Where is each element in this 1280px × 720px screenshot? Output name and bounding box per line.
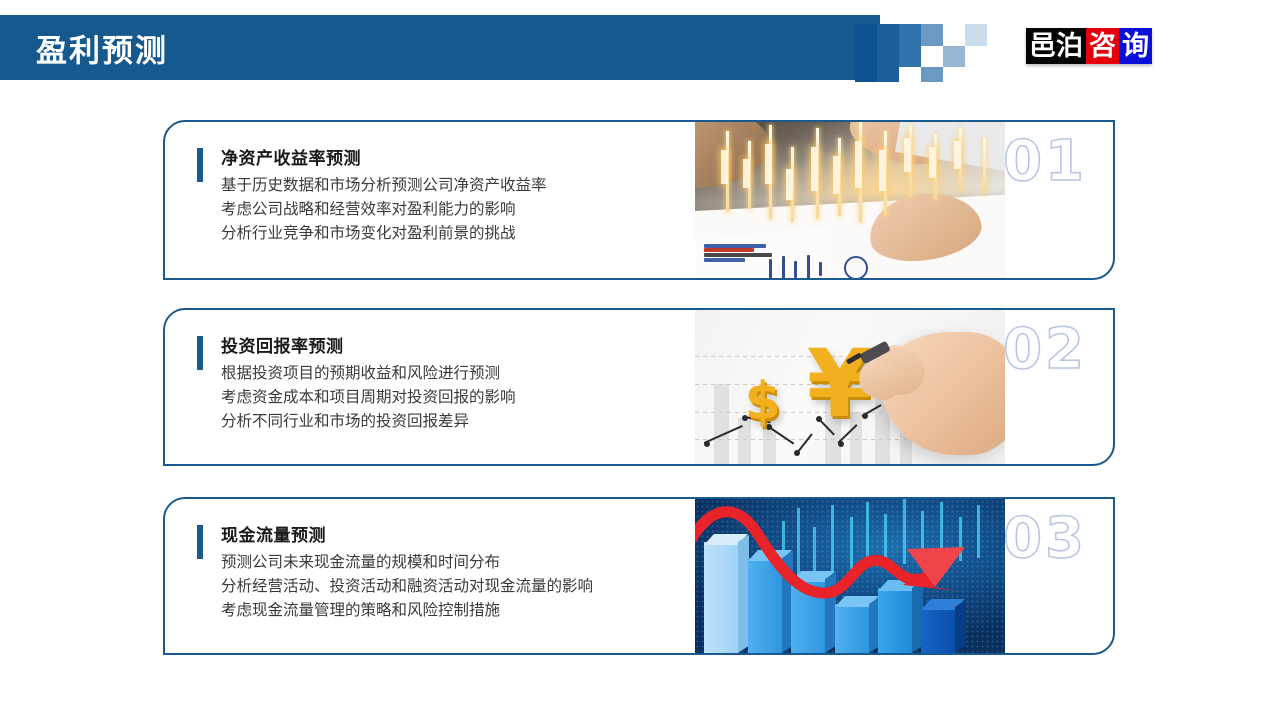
card-1-number: 01 <box>1003 134 1087 190</box>
accent-bar-3 <box>197 525 203 559</box>
card-1-photo <box>695 122 1005 278</box>
content-card-2[interactable]: 投资回报率预测 根据投资项目的预期收益和风险进行预测 考虑资金成本和项目周期对投… <box>163 308 1115 466</box>
logo-seg-red: 咨 <box>1086 28 1119 64</box>
card-2-number: 02 <box>1003 322 1087 378</box>
card-3-number: 03 <box>1003 511 1087 567</box>
page-title: 盈利预测 <box>36 25 168 70</box>
logo-seg-blue: 询 <box>1119 28 1152 64</box>
brand-logo: 邑泊 咨 询 <box>1026 28 1152 64</box>
header-checker-decoration <box>855 14 995 82</box>
dollar-symbol-icon: $ <box>745 372 781 432</box>
card-2-photo: $ ¥ <box>695 310 1005 464</box>
red-trend-arrow-icon <box>695 499 1005 653</box>
content-card-1[interactable]: 净资产收益率预测 基于历史数据和市场分析预测公司净资产收益率 考虑公司战略和经营… <box>163 120 1115 280</box>
accent-bar-2 <box>197 336 203 370</box>
page-header-bar: 盈利预测 <box>0 15 880 80</box>
card-3-photo <box>695 499 1005 653</box>
accent-bar-1 <box>197 148 203 182</box>
content-card-3[interactable]: 现金流量预测 预测公司未来现金流量的规模和时间分布 分析经营活动、投资活动和融资… <box>163 497 1115 655</box>
logo-seg-black: 邑泊 <box>1026 28 1086 64</box>
